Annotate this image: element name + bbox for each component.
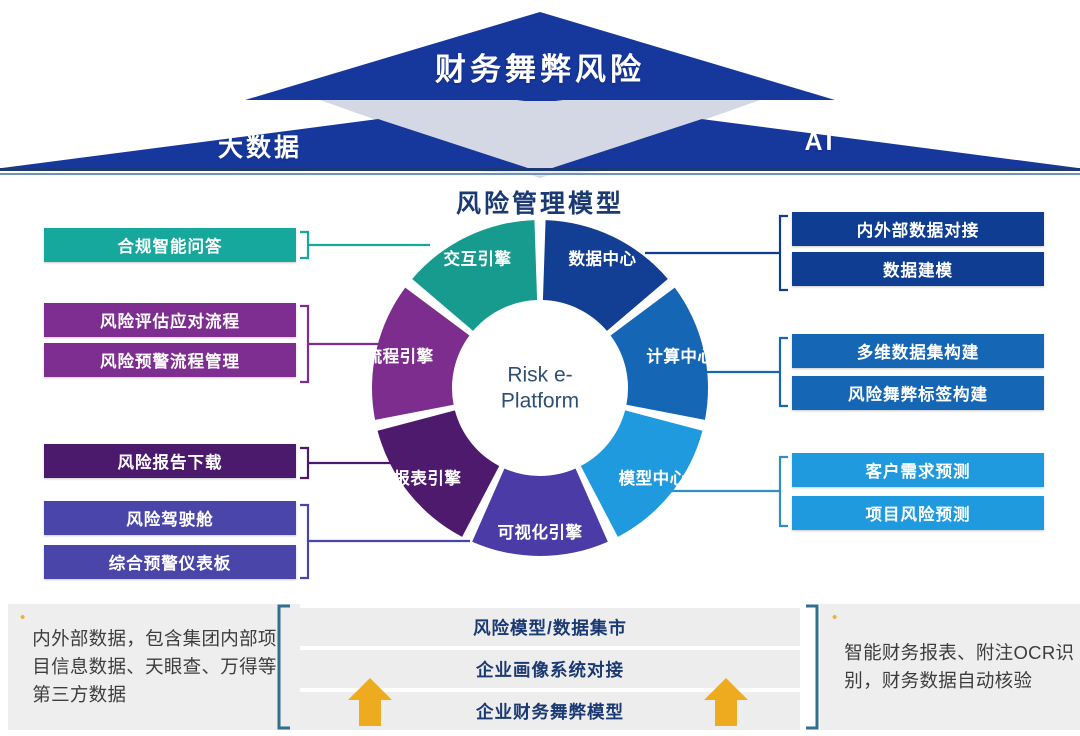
donut-segment-label-model-center: 模型中心 <box>619 468 687 488</box>
up-arrow-left-icon <box>347 676 393 728</box>
donut-segment-label-data-center: 数据中心 <box>569 248 637 268</box>
card-label: 合规智能问答 <box>118 233 223 257</box>
card-label: 内外部数据对接 <box>857 217 980 241</box>
up-arrow-right-icon <box>703 676 749 728</box>
bottom-right-note-text: 智能财务报表、附注OCR识别，财务数据自动核验 <box>844 639 1080 695</box>
donut-segment-label-compute-center: 计算中心 <box>646 346 710 366</box>
donut-segment-label-visualization-engine: 可视化引擎 <box>498 522 583 542</box>
donut-center-line2: Platform <box>465 388 615 414</box>
card-compliance-qa[interactable]: 合规智能问答 <box>44 228 296 262</box>
donut-segment-label-process-engine: 流程引擎 <box>370 346 434 366</box>
card-alert-dashboard[interactable]: 综合预警仪表板 <box>44 545 296 579</box>
donut-segment-label-interaction-engine: 交互引擎 <box>444 248 512 268</box>
pyramid-baseline-1 <box>0 168 1080 171</box>
pyramid-left-label: 大数据 <box>150 128 370 164</box>
donut-segment-label-report-engine: 报表引擎 <box>393 468 461 488</box>
card-label: 多维数据集构建 <box>857 339 980 363</box>
bullet-icon: • <box>832 610 837 625</box>
card-data-modeling[interactable]: 数据建模 <box>792 252 1044 286</box>
card-data-interconnect[interactable]: 内外部数据对接 <box>792 212 1044 246</box>
card-label: 项目风险预测 <box>866 501 971 525</box>
diagram-canvas: 财务舞弊风险 大数据 AI 风险管理模型 数据中心计算中心模型中心可视化引擎报 <box>0 0 1080 736</box>
pyramid-header: 财务舞弊风险 大数据 AI <box>0 0 1080 178</box>
card-multidim-dataset[interactable]: 多维数据集构建 <box>792 334 1044 368</box>
card-label: 数据建模 <box>883 257 953 281</box>
card-risk-report-download[interactable]: 风险报告下载 <box>44 444 296 478</box>
card-fraud-tag-building[interactable]: 风险舞弊标签构建 <box>792 376 1044 410</box>
card-label: 客户需求预测 <box>866 458 971 482</box>
card-label: 风险舞弊标签构建 <box>848 381 988 405</box>
card-risk-cockpit[interactable]: 风险驾驶舱 <box>44 501 296 535</box>
donut-segment-visualization-engine[interactable] <box>472 469 608 556</box>
bottom-right-note: • 智能财务报表、附注OCR识别，财务数据自动核验 <box>820 604 1080 730</box>
pyramid-right-label: AI <box>710 128 930 157</box>
bottom-left-bracket <box>276 604 294 730</box>
card-label: 风险评估应对流程 <box>100 308 240 332</box>
card-customer-demand[interactable]: 客户需求预测 <box>792 453 1044 487</box>
card-label: 风险预警流程管理 <box>100 348 240 372</box>
pyramid-top-label: 财务舞弊风险 <box>0 44 1080 89</box>
bottom-left-note: • 内外部数据，包含集团内部项目信息数据、天眼查、万得等第三方数据 <box>8 604 300 730</box>
pyramid-baseline-2 <box>0 173 1080 175</box>
card-project-risk-forecast[interactable]: 项目风险预测 <box>792 496 1044 530</box>
card-label: 综合预警仪表板 <box>109 550 232 574</box>
bottom-right-bracket <box>802 604 820 730</box>
middle-row-0: 风险模型/数据集市 <box>300 608 800 646</box>
risk-platform-donut: 数据中心计算中心模型中心可视化引擎报表引擎流程引擎交互引擎 Risk e- Pl… <box>370 218 710 558</box>
bottom-left-note-text: 内外部数据，包含集团内部项目信息数据、天眼查、万得等第三方数据 <box>32 625 290 708</box>
card-risk-assessment-flow[interactable]: 风险评估应对流程 <box>44 303 296 337</box>
donut-center-label: Risk e- Platform <box>465 362 615 413</box>
bullet-icon: • <box>20 610 25 625</box>
card-label: 风险驾驶舱 <box>126 506 214 530</box>
donut-center-line1: Risk e- <box>465 362 615 388</box>
card-risk-alert-flow[interactable]: 风险预警流程管理 <box>44 343 296 377</box>
card-label: 风险报告下载 <box>118 449 223 473</box>
